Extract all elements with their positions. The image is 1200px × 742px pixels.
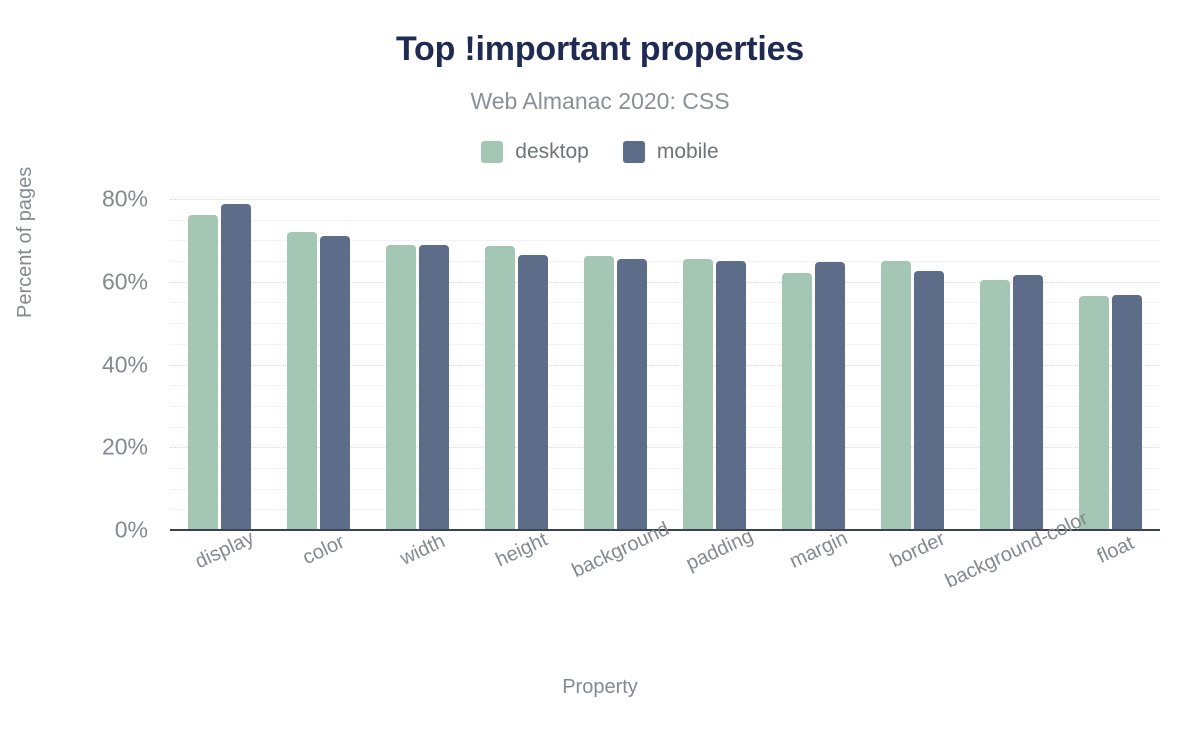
x-axis-tick-slot: width [368, 534, 467, 654]
bar-desktop-height[interactable] [485, 246, 515, 530]
legend-label-desktop: desktop [515, 140, 589, 164]
x-axis-tick-slot: background-color [962, 534, 1061, 654]
legend-item-desktop[interactable]: desktop [481, 140, 589, 164]
bar-group [863, 199, 962, 530]
x-axis-tick-slot: float [1061, 534, 1160, 654]
x-axis-tick-slot: border [863, 534, 962, 654]
bar-desktop-margin[interactable] [782, 273, 812, 530]
plot-area [170, 199, 1160, 530]
y-axis-tick-label: 20% [102, 434, 148, 461]
x-axis-tick-slot: color [269, 534, 368, 654]
bar-group [170, 199, 269, 530]
y-axis-tick-label: 0% [115, 517, 148, 544]
x-axis-tick-label: color [299, 531, 348, 570]
x-axis-tick-slot: height [467, 534, 566, 654]
bar-group [665, 199, 764, 530]
bar-group [962, 199, 1061, 530]
bar-mobile-background-color[interactable] [1013, 275, 1043, 530]
legend-item-mobile[interactable]: mobile [623, 140, 719, 164]
y-axis-tick-label: 80% [102, 186, 148, 213]
bar-mobile-height[interactable] [518, 255, 548, 530]
chart-title: Top !important properties [0, 30, 1200, 69]
x-axis-title: Property [0, 676, 1200, 699]
x-axis-tick-label: width [396, 530, 448, 571]
bar-mobile-float[interactable] [1112, 295, 1142, 530]
x-axis-tick-slot: background [566, 534, 665, 654]
bar-mobile-width[interactable] [419, 245, 449, 530]
chart-container: Top !important properties Web Almanac 20… [0, 0, 1200, 742]
y-axis-title: Percent of pages [14, 167, 37, 318]
bar-group [368, 199, 467, 530]
bar-desktop-color[interactable] [287, 232, 317, 530]
x-axis-tick-labels: displaycolorwidthheightbackgroundpadding… [170, 534, 1160, 654]
bar-desktop-float[interactable] [1079, 296, 1109, 530]
bar-mobile-padding[interactable] [716, 261, 746, 530]
bar-desktop-width[interactable] [386, 245, 416, 530]
bar-groups [170, 199, 1160, 530]
legend-swatch-mobile [623, 141, 645, 163]
x-axis-tick-label: height [492, 528, 551, 572]
x-axis-tick-slot: display [170, 534, 269, 654]
bar-desktop-background-color[interactable] [980, 280, 1010, 530]
x-axis-tick-label: display [191, 527, 257, 574]
bar-mobile-border[interactable] [914, 271, 944, 530]
x-axis-tick-label: margin [786, 527, 851, 574]
bar-mobile-background[interactable] [617, 259, 647, 530]
bar-group [1061, 199, 1160, 530]
bar-desktop-display[interactable] [188, 215, 218, 530]
bar-group [467, 199, 566, 530]
bar-desktop-border[interactable] [881, 261, 911, 530]
legend-swatch-desktop [481, 141, 503, 163]
bar-group [764, 199, 863, 530]
x-axis-tick-label: padding [682, 525, 756, 576]
bar-mobile-color[interactable] [320, 236, 350, 530]
bar-mobile-margin[interactable] [815, 262, 845, 530]
x-axis-tick-slot: padding [665, 534, 764, 654]
y-axis-tick-label: 40% [102, 351, 148, 378]
chart-subtitle: Web Almanac 2020: CSS [0, 88, 1200, 115]
legend-label-mobile: mobile [657, 140, 719, 164]
bar-desktop-background[interactable] [584, 256, 614, 530]
y-axis-tick-label: 60% [102, 268, 148, 295]
bar-group [269, 199, 368, 530]
bar-group [566, 199, 665, 530]
bar-desktop-padding[interactable] [683, 259, 713, 530]
x-axis-tick-label: float [1093, 532, 1137, 569]
bar-mobile-display[interactable] [221, 204, 251, 530]
chart-legend: desktop mobile [0, 140, 1200, 164]
x-axis-tick-slot: margin [764, 534, 863, 654]
x-axis-tick-label: border [886, 528, 948, 573]
